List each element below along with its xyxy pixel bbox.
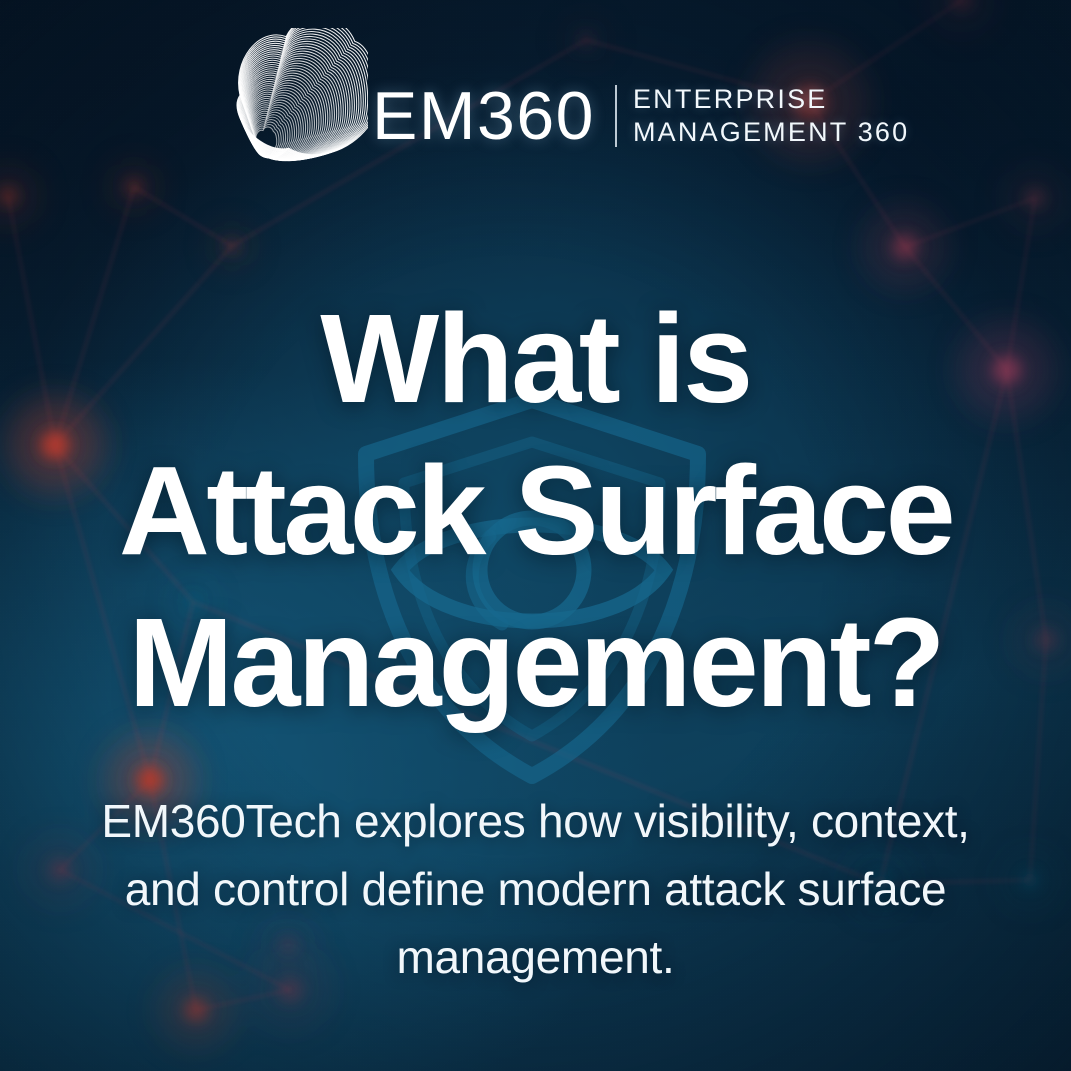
page-subtitle-line2: and control define modern attack surface	[50, 855, 1021, 923]
page-title-line1: What is	[0, 283, 1071, 435]
page-subtitle-line3: management.	[50, 923, 1021, 991]
em360-logo[interactable]: EM360 ENTERPRISE MANAGEMENT 360	[232, 28, 832, 203]
page-subtitle-line1: EM360Tech explores how visibility, conte…	[50, 787, 1021, 855]
logo-tagline: ENTERPRISE MANAGEMENT 360	[633, 84, 909, 146]
page-subtitle: EM360Tech explores how visibility, conte…	[50, 787, 1021, 991]
logo-tagline-line2: MANAGEMENT 360	[633, 117, 909, 147]
page-title-line2: Attack Surface	[0, 435, 1071, 587]
logo-tagline-line1: ENTERPRISE	[633, 84, 909, 114]
social-card: EM360 ENTERPRISE MANAGEMENT 360 What is …	[0, 0, 1071, 1071]
em360-wordmark: EM360	[372, 82, 595, 150]
em360-wordmark-block: EM360 ENTERPRISE MANAGEMENT 360	[372, 82, 909, 150]
page-title: What is Attack Surface Management?	[0, 283, 1071, 739]
em360-cloud-contour-logo-icon	[232, 28, 368, 203]
page-title-line3: Management?	[0, 587, 1071, 739]
logo-divider	[615, 85, 617, 147]
